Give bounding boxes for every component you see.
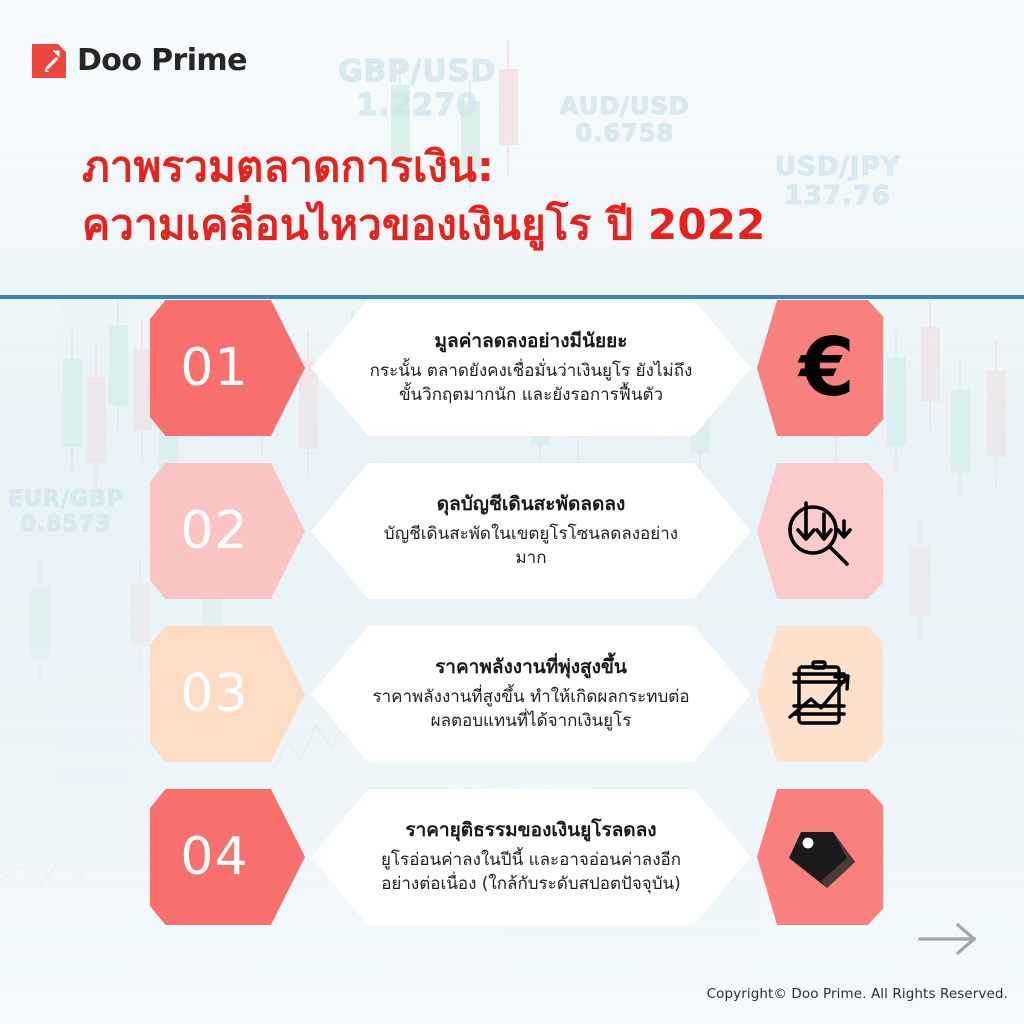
header-divider	[0, 295, 1024, 299]
point-title: ดุลบัญชีเดินสะพัดลดลง	[437, 492, 626, 518]
point-card: ราคายุติธรรมของเงินยูโรลดลง ยูโรอ่อนค่าล…	[311, 789, 751, 925]
step-number: 03	[180, 664, 248, 724]
point-card: ราคาพลังงานที่พุ่งสูงขึ้น ราคาพลังงานที่…	[311, 626, 751, 762]
step-number-badge: 02	[150, 463, 305, 599]
doo-prime-logo-icon	[32, 44, 66, 78]
page-title: ภาพรวมตลาดการเงิน: ความเคลื่อนไหวของเงิน…	[82, 138, 962, 254]
point-icon-badge	[757, 789, 883, 925]
step-number: 01	[180, 338, 248, 398]
price-tag-icon	[777, 814, 863, 900]
step-number: 04	[180, 827, 248, 887]
point-body-line: ราคาพลังงานที่สูงขึ้น ทำให้เกิดผลกระทบต่…	[372, 685, 689, 709]
declining-search-icon	[777, 488, 863, 574]
list-item[interactable]: 04 ราคายุติธรรมของเงินยูโรลดลง ยูโรอ่อนค…	[0, 789, 1024, 925]
oil-barrel-rising-icon	[777, 651, 863, 737]
point-title: ราคายุติธรรมของเงินยูโรลดลง	[405, 818, 656, 844]
point-icon-badge: €	[757, 300, 883, 436]
point-card: ดุลบัญชีเดินสะพัดลดลง บัญชีเดินสะพัดในเข…	[311, 463, 751, 599]
step-number-badge: 01	[150, 300, 305, 436]
point-body-line: กระนั้น ตลาดยังคงเชื่อมั่นว่าเงินยูโร ยั…	[370, 359, 693, 383]
point-card: มูลค่าลดลงอย่างมีนัยยะ กระนั้น ตลาดยังคง…	[311, 300, 751, 436]
point-title: มูลค่าลดลงอย่างมีนัยยะ	[435, 329, 628, 355]
brand-logo[interactable]: Doo Prime	[32, 44, 247, 78]
step-number: 02	[180, 501, 248, 561]
arrow-right-icon[interactable]	[918, 922, 982, 960]
brand-name: Doo Prime	[77, 46, 247, 76]
step-number-badge: 03	[150, 626, 305, 762]
list-item[interactable]: 03 ราคาพลังงานที่พุ่งสูงขึ้น ราคาพลังงาน…	[0, 626, 1024, 762]
list-item[interactable]: 02 ดุลบัญชีเดินสะพัดลดลง บัญชีเดินสะพัดใ…	[0, 463, 1024, 599]
title-line-1: ภาพรวมตลาดการเงิน:	[82, 138, 962, 196]
euro-currency-icon: €	[799, 328, 855, 408]
header: Doo Prime ภาพรวมตลาดการเงิน: ความเคลื่อน…	[0, 0, 1024, 298]
point-body-line: ยูโรอ่อนค่าลงในปีนี้ และอาจอ่อนค่าลงอีก	[381, 848, 681, 872]
point-body-line: ขั้นวิกฤตมากนัก และยังรอการฟื้นตัว	[399, 383, 663, 407]
list-item[interactable]: 01 มูลค่าลดลงอย่างมีนัยยะ กระนั้น ตลาดยั…	[0, 300, 1024, 436]
points-list: 01 มูลค่าลดลงอย่างมีนัยยะ กระนั้น ตลาดยั…	[0, 300, 1024, 952]
point-body-line: อย่างต่อเนื่อง (ใกล้กับระดับสปอตปัจจุบัน…	[381, 872, 681, 896]
point-title: ราคาพลังงานที่พุ่งสูงขึ้น	[435, 655, 627, 681]
point-icon-badge	[757, 463, 883, 599]
point-body-line: ผลตอบแทนที่ได้จากเงินยูโร	[431, 709, 632, 733]
step-number-badge: 04	[150, 789, 305, 925]
copyright-text: Copyright© Doo Prime. All Rights Reserve…	[707, 986, 1008, 1002]
point-body-line: บัญชีเดินสะพัดในเขตยูโรโซนลดลงอย่างมาก	[369, 522, 693, 570]
point-icon-badge	[757, 626, 883, 762]
title-line-2: ความเคลื่อนไหวของเงินยูโร ปี 2022	[82, 196, 962, 254]
